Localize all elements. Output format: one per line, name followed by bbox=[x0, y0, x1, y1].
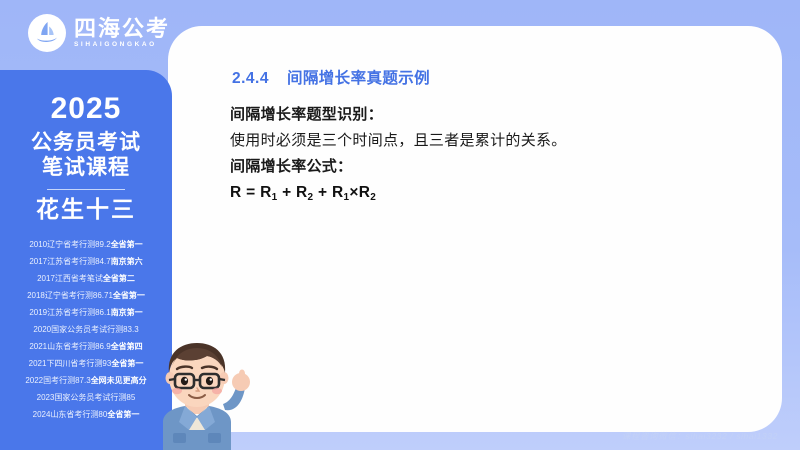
achievement-rank: 全省第一 bbox=[111, 240, 143, 249]
achievement-text: 2017江西省考笔试 bbox=[37, 274, 103, 283]
body-line-1: 间隔增长率题型识别： bbox=[230, 102, 770, 127]
achievement-item: 2020国家公务员考试行测83.3 bbox=[0, 321, 172, 338]
sidebar-course-line2: 笔试课程 bbox=[0, 156, 172, 181]
slide-root: 四海公考 SIHAIGONGKAO 2025 公务员考试 笔试课程 花生十三 2… bbox=[0, 0, 800, 450]
heading-title: 间隔增长率真题示例 bbox=[287, 70, 430, 87]
sidebar-teacher-name: 花生十三 bbox=[0, 197, 172, 222]
formula-equals: = bbox=[246, 184, 255, 201]
body-line-2: 使用时必须是三个时间点，且三者是累计的关系。 bbox=[230, 127, 770, 154]
achievement-rank: 全省第一 bbox=[113, 291, 145, 300]
achievement-rank: 全省第一 bbox=[111, 359, 143, 368]
achievement-item: 2023国家公务员考试行测85 bbox=[0, 389, 172, 406]
achievement-list: 2010辽宁省考行测89.2全省第一2017江苏省考行测84.7南京第六2017… bbox=[0, 236, 172, 423]
formula-op-3: × bbox=[349, 184, 358, 201]
sidebar-panel: 2025 公务员考试 笔试课程 花生十三 2010辽宁省考行测89.2全省第一2… bbox=[0, 70, 172, 450]
achievement-item: 2024山东省考行测80全省第一 bbox=[0, 406, 172, 423]
heading-number: 2.4.4 bbox=[232, 70, 269, 87]
sailboat-icon bbox=[28, 14, 66, 52]
formula-term-4: R2 bbox=[359, 184, 376, 201]
achievement-text: 2018辽宁省考行测86.71 bbox=[27, 291, 113, 300]
achievement-text: 2020国家公务员考试行测83.3 bbox=[33, 325, 138, 334]
achievement-item: 2019江苏省考行测86.1南京第一 bbox=[0, 304, 172, 321]
achievement-text: 2022国考行测87.3 bbox=[25, 376, 90, 385]
formula-term-3: R1 bbox=[332, 184, 349, 201]
achievement-text: 2024山东省考行测80 bbox=[33, 410, 108, 419]
sidebar-divider bbox=[47, 189, 125, 190]
achievement-item: 2021山东省考行测86.9全省第四 bbox=[0, 338, 172, 355]
achievement-rank: 全省第二 bbox=[103, 274, 135, 283]
achievement-item: 2017江西省考笔试全省第二 bbox=[0, 270, 172, 287]
achievement-item: 2017江苏省考行测84.7南京第六 bbox=[0, 253, 172, 270]
brand-name-cn: 四海公考 bbox=[74, 17, 170, 40]
formula-term-2: R2 bbox=[296, 184, 313, 201]
sidebar-year: 2025 bbox=[0, 94, 172, 124]
slide-body: 间隔增长率题型识别： 使用时必须是三个时间点，且三者是累计的关系。 间隔增长率公… bbox=[230, 102, 770, 211]
formula-lhs: R bbox=[230, 184, 242, 201]
achievement-rank: 南京第六 bbox=[111, 257, 143, 266]
achievement-text: 2017江苏省考行测84.7 bbox=[29, 257, 110, 266]
interval-growth-rate-formula: R = R1 + R2 + R1×R2 bbox=[230, 179, 770, 211]
formula-op-1: + bbox=[282, 184, 291, 201]
achievement-item: 2022国考行测87.3全网未见更高分 bbox=[0, 372, 172, 389]
achievement-item: 2010辽宁省考行测89.2全省第一 bbox=[0, 236, 172, 253]
brand-name-en: SIHAIGONGKAO bbox=[74, 41, 170, 49]
achievement-item: 2018辽宁省考行测86.71全省第一 bbox=[0, 287, 172, 304]
sidebar-course-line1: 公务员考试 bbox=[0, 131, 172, 156]
brand-logo: 四海公考 SIHAIGONGKAO bbox=[28, 12, 170, 54]
achievement-rank: 全网未见更高分 bbox=[91, 376, 147, 385]
achievement-text: 2010辽宁省考行测89.2 bbox=[29, 240, 110, 249]
achievement-text: 2021山东省考行测86.9 bbox=[29, 342, 110, 351]
achievement-text: 2021下四川省考行测93 bbox=[29, 359, 112, 368]
achievement-rank: 南京第一 bbox=[111, 308, 143, 317]
achievement-text: 2019江苏省考行测86.1 bbox=[29, 308, 110, 317]
formula-op-2: + bbox=[318, 184, 327, 201]
achievement-rank: 全省第四 bbox=[111, 342, 143, 351]
achievement-rank: 全省第一 bbox=[107, 410, 139, 419]
body-line-3: 间隔增长率公式： bbox=[230, 154, 770, 179]
achievement-item: 2021下四川省考行测93全省第一 bbox=[0, 355, 172, 372]
achievement-text: 2023国家公务员考试行测85 bbox=[37, 393, 136, 402]
slide-heading: 2.4.4间隔增长率真题示例 bbox=[232, 66, 430, 88]
contact-watermark: 课程咨询微信：sihai3232 / sihai1332 bbox=[622, 430, 778, 442]
formula-term-1: R1 bbox=[260, 184, 277, 201]
